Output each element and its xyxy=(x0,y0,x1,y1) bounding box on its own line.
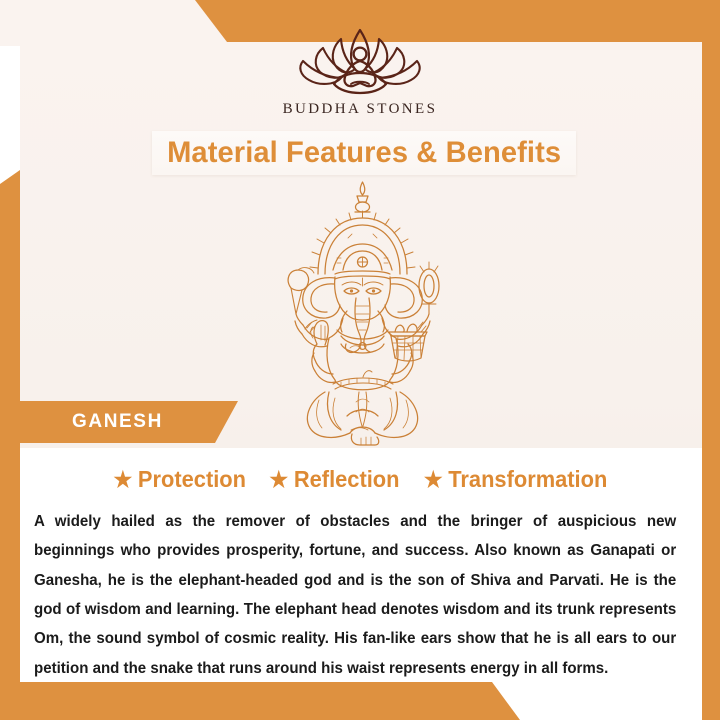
bottom-accent-band xyxy=(0,682,720,720)
brand-logo: BUDDHA STONES xyxy=(0,24,720,118)
title-banner: Material Features & Benefits xyxy=(152,131,576,175)
left-accent-bar xyxy=(0,170,20,720)
deity-name-label: GANESH xyxy=(72,411,163,433)
ganesh-illustration xyxy=(255,178,470,448)
star-icon: ★ xyxy=(423,469,442,491)
description-text: A widely hailed as the remover of obstac… xyxy=(34,507,676,683)
page-title: Material Features & Benefits xyxy=(167,136,561,170)
benefit-item-protection: ★ Protection xyxy=(114,466,246,493)
infographic-page: BUDDHA STONES Material Features & Benefi… xyxy=(0,0,720,720)
content-panel: ★ Protection ★ Reflection ★ Transformati… xyxy=(20,448,702,682)
benefit-label: Reflection xyxy=(294,466,400,493)
benefits-row: ★ Protection ★ Reflection ★ Transformati… xyxy=(20,466,702,493)
benefit-item-transformation: ★ Transformation xyxy=(423,466,606,493)
benefit-label: Transformation xyxy=(448,466,607,493)
lotus-meditation-icon xyxy=(285,24,435,96)
benefit-label: Protection xyxy=(138,466,246,493)
benefit-item-reflection: ★ Reflection xyxy=(269,466,399,493)
brand-name: BUDDHA STONES xyxy=(283,101,438,118)
star-icon: ★ xyxy=(269,469,288,491)
deity-name-tab: GANESH xyxy=(0,401,238,443)
star-icon: ★ xyxy=(114,469,133,491)
